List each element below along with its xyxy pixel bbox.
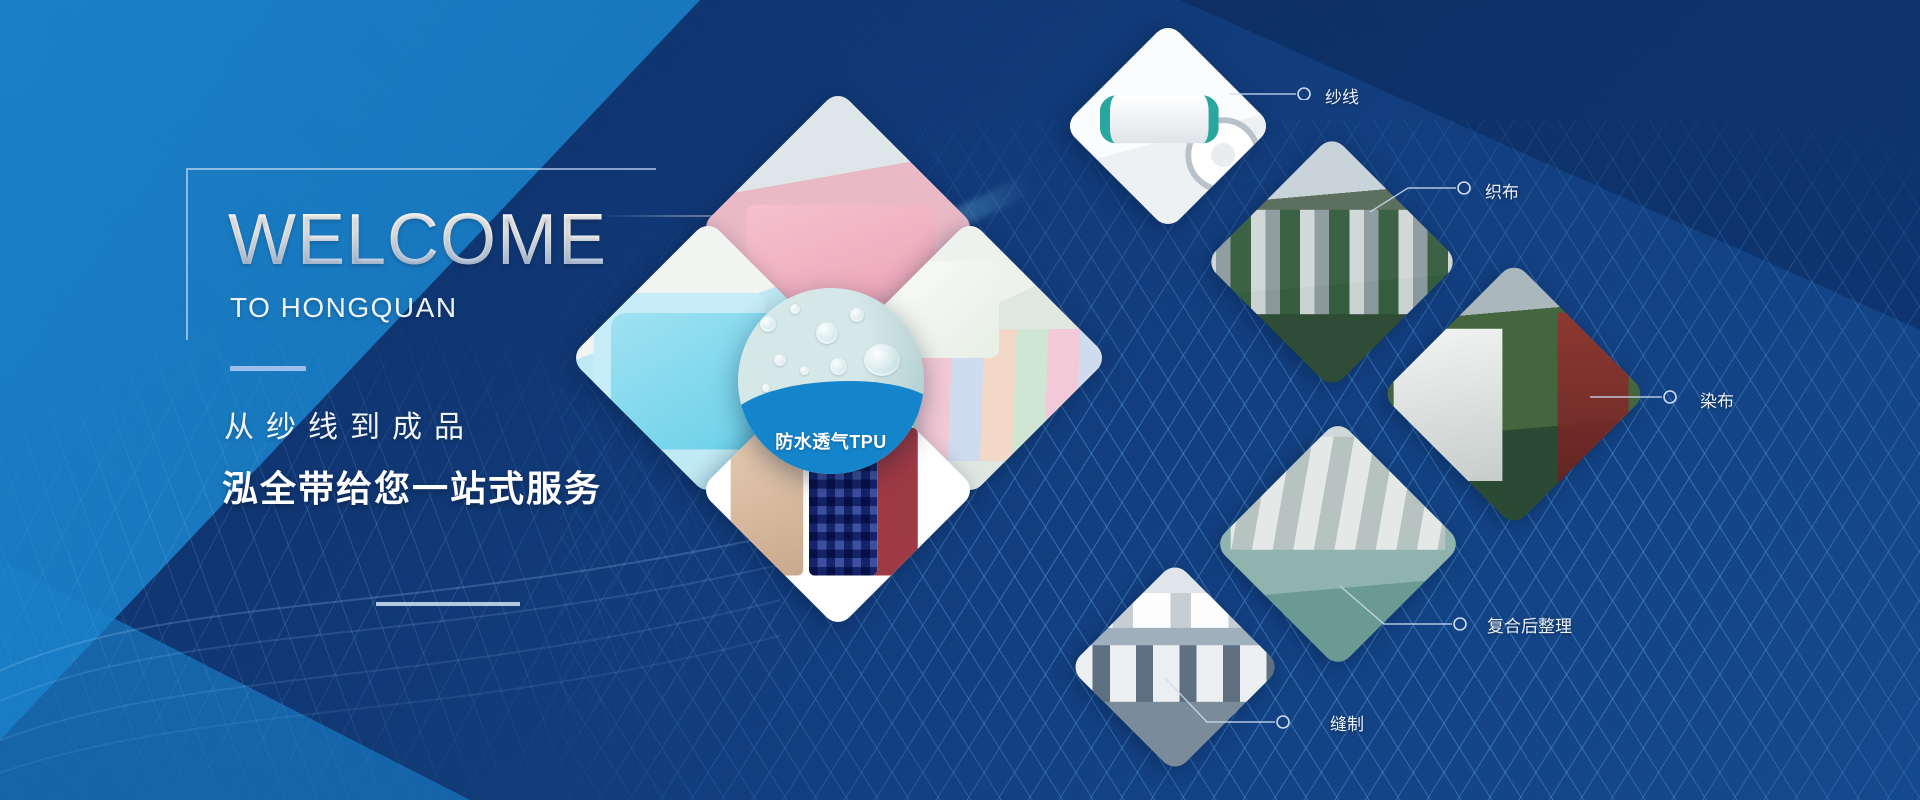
page-subtitle: TO HONGQUAN: [230, 292, 458, 324]
center-badge-label: 防水透气TPU: [738, 428, 924, 454]
bottom-accent-rule: [376, 602, 520, 606]
process-label-weaving: 织布: [1485, 178, 1519, 203]
hero-banner: WELCOME TO HONGQUAN 从纱线到成品 泓全带给您一站式服务: [0, 0, 1920, 800]
leader-line-weaving: [1370, 150, 1570, 220]
process-label-yarn: 纱线: [1325, 83, 1359, 108]
process-label-dyeing: 染布: [1700, 387, 1734, 412]
page-title: WELCOME: [228, 204, 607, 276]
center-badge[interactable]: 防水透气TPU: [738, 288, 924, 474]
slogan: 泓全带给您一站式服务: [222, 460, 602, 512]
process-label-sewing: 缝制: [1330, 710, 1364, 735]
tagline: 从纱线到成品: [224, 402, 476, 446]
accent-rule: [230, 366, 306, 371]
leader-line-dyeing: [1590, 375, 1770, 415]
process-label-lamination: 复合后整理: [1487, 612, 1572, 637]
